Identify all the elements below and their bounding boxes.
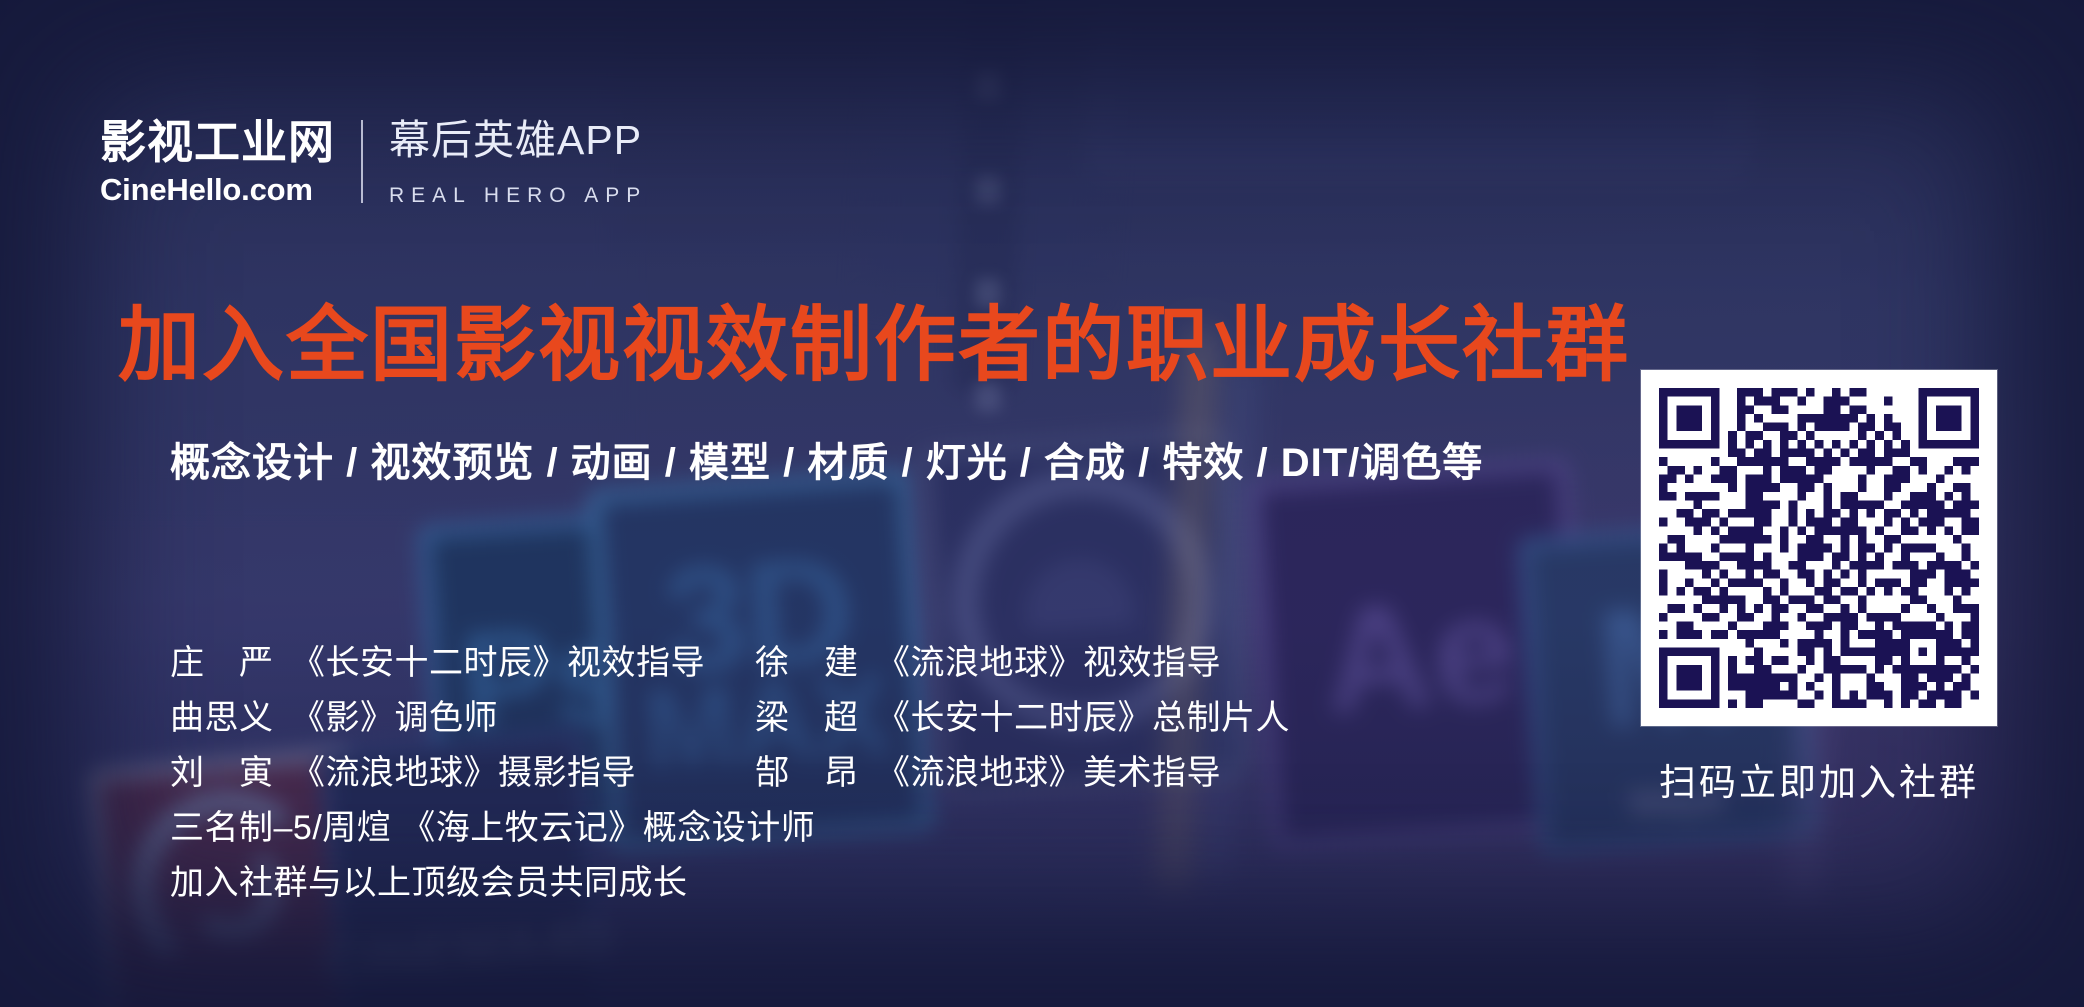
qr-caption: 扫码立即加入社群	[1641, 752, 1997, 806]
qr-block[interactable]: 扫码立即加入社群	[1641, 370, 1997, 806]
credit-row: 刘 寅 《流浪地球》摄影指导 郜 昂 《流浪地球》美术指导	[170, 745, 1315, 800]
credit-row: 曲思义 《影》调色师 梁 超 《长安十二时辰》总制片人	[170, 690, 1315, 745]
credit-left: 庄 严 《长安十二时辰》视效指导	[170, 646, 755, 680]
credit-right: 郜 昂 《流浪地球》美术指导	[755, 756, 1315, 790]
logo-brand-block: 影视工业网 CineHello.com	[100, 118, 361, 207]
credit-row: 三名制–5/周煊 《海上牧云记》概念设计师	[170, 800, 1315, 855]
tagline: 加入社群与以上顶级会员共同成长	[170, 866, 688, 900]
qr-card[interactable]	[1641, 370, 1997, 726]
logo-brand-cn: 影视工业网	[100, 118, 335, 168]
logo-app-en: REAL HERO APP	[389, 184, 647, 207]
credit-left: 刘 寅 《流浪地球》摄影指导	[170, 756, 755, 790]
site-logo[interactable]: 影视工业网 CineHello.com 幕后英雄APP REAL HERO AP…	[100, 118, 647, 207]
credit-right: 梁 超 《长安十二时辰》总制片人	[755, 701, 1315, 735]
banner-content: 影视工业网 CineHello.com 幕后英雄APP REAL HERO AP…	[0, 0, 2084, 1007]
headline: 加入全国影视视效制作者的职业成长社群	[118, 305, 1630, 387]
credit-right: 徐 建 《流浪地球》视效指导	[755, 646, 1315, 680]
credit-left: 三名制–5/周煊 《海上牧云记》概念设计师	[170, 811, 815, 845]
credit-left: 曲思义 《影》调色师	[170, 701, 755, 735]
logo-app-cn: 幕后英雄APP	[389, 118, 647, 163]
credit-row: 庄 严 《长安十二时辰》视效指导 徐 建 《流浪地球》视效指导	[170, 635, 1315, 690]
promo-banner: Ps 3D MAX Ae M Maya CINEMA4D	[0, 0, 2084, 1007]
logo-brand-en: CineHello.com	[100, 173, 335, 207]
logo-app-block: 幕后英雄APP REAL HERO APP	[363, 118, 647, 207]
subtitle-disciplines: 概念设计 / 视效预览 / 动画 / 模型 / 材质 / 灯光 / 合成 / 特…	[170, 443, 1483, 483]
qr-code-icon[interactable]	[1659, 388, 1979, 708]
credits-list: 庄 严 《长安十二时辰》视效指导 徐 建 《流浪地球》视效指导 曲思义 《影》调…	[170, 635, 1315, 855]
